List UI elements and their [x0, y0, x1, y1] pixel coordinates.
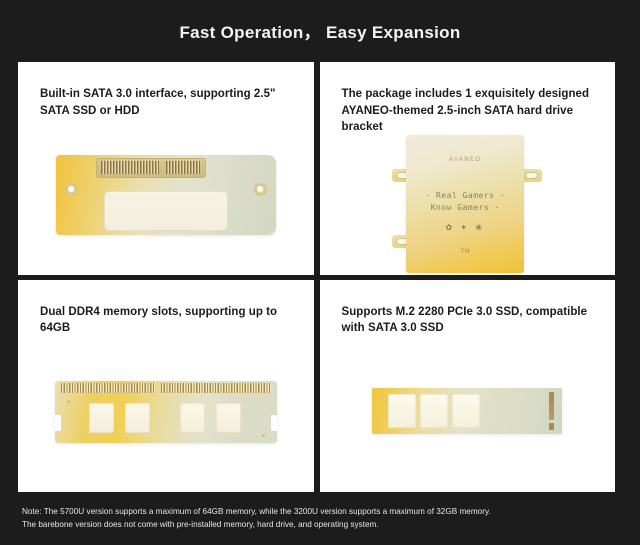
card-sata-interface-art — [18, 119, 314, 274]
ddr4-notch-left — [55, 415, 61, 431]
bracket-slogan-line1: · Real Gamers · — [406, 190, 524, 202]
card-m2-ssd-text: Supports M.2 2280 PCIe 3.0 SSD, compatib… — [320, 280, 616, 337]
ddr4-pin-group-left — [61, 383, 155, 393]
card-drive-bracket: The package includes 1 exquisitely desig… — [320, 62, 616, 275]
ddr4-chip-1 — [89, 403, 114, 433]
ddr4-marker-dot-right — [262, 434, 265, 437]
card-memory-slots: Dual DDR4 memory slots, supporting up to… — [18, 280, 314, 493]
ddr4-chip-2 — [125, 403, 150, 433]
card-sata-interface-text: Built-in SATA 3.0 interface, supporting … — [18, 62, 314, 119]
card-sata-interface: Built-in SATA 3.0 interface, supporting … — [18, 62, 314, 275]
m2-ssd-image — [372, 388, 562, 434]
ddr4-pin-group-right — [161, 383, 271, 393]
bracket-slogan: · Real Gamers · Know Gamers · — [406, 190, 524, 213]
mount-hole-right-icon — [254, 183, 267, 196]
footer-note: Note: The 5700U version supports a maxim… — [22, 505, 622, 532]
card-memory-slots-art — [18, 337, 314, 492]
sata-board-image — [56, 155, 276, 235]
page-title: Fast Operation， Easy Expansion — [0, 0, 640, 43]
feature-card-grid: Built-in SATA 3.0 interface, supporting … — [18, 62, 615, 492]
footer-note-line1: Note: The 5700U version supports a maxim… — [22, 505, 622, 518]
bracket-body: AYANEO · Real Gamers · Know Gamers · ✿ ✦… — [406, 135, 524, 273]
bracket-footer-text: TM — [406, 249, 524, 255]
ayaneo-bracket-image: AYANEO · Real Gamers · Know Gamers · ✿ ✦… — [392, 135, 542, 273]
m2-chip-2 — [420, 394, 448, 428]
bracket-decorative-glyphs-icon: ✿ ✦ ❀ — [406, 223, 524, 232]
ddr4-marker-dot-left — [67, 400, 70, 403]
mount-hole-left-icon — [65, 183, 78, 196]
m2-edge-connector-tail — [549, 423, 554, 430]
ddr4-module-image — [55, 381, 277, 443]
bracket-brand-text: AYANEO — [406, 157, 524, 163]
card-memory-slots-text: Dual DDR4 memory slots, supporting up to… — [18, 280, 314, 337]
sata-board-label-area — [104, 191, 228, 231]
sata-connector — [96, 158, 206, 178]
card-m2-ssd: Supports M.2 2280 PCIe 3.0 SSD, compatib… — [320, 280, 616, 493]
card-m2-ssd-art — [320, 337, 616, 492]
m2-edge-connector — [549, 392, 554, 420]
sata-pin-group-right — [166, 161, 200, 174]
m2-chip-3 — [452, 394, 480, 428]
card-drive-bracket-text: The package includes 1 exquisitely desig… — [320, 62, 616, 136]
ddr4-chip-4 — [216, 403, 241, 433]
ddr4-notch-right — [271, 415, 277, 431]
ddr4-pin-row — [61, 383, 271, 393]
ddr4-chip-3 — [180, 403, 205, 433]
card-drive-bracket-art: AYANEO · Real Gamers · Know Gamers · ✿ ✦… — [320, 136, 616, 274]
footer-note-line2: The barebone version does not come with … — [22, 518, 622, 531]
bracket-slogan-line2: Know Gamers · — [406, 202, 524, 214]
sata-pin-group-left — [101, 161, 159, 174]
m2-chip-1 — [388, 394, 416, 428]
